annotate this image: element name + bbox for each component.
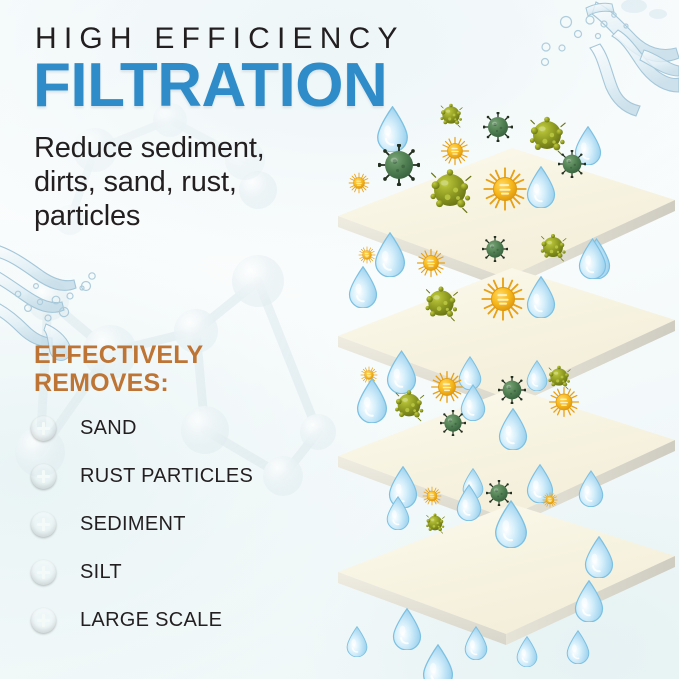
list-item: SAND [31,404,361,452]
plus-circle-icon [31,512,56,537]
subhead-line-3: particles [34,199,265,233]
plus-circle-icon [31,560,56,585]
pollen-spiked-yellow [423,487,441,505]
list-item-label: LARGE SCALE [80,609,222,632]
removes-heading: EFFECTIVELY REMOVES: [34,341,203,397]
kicker-text: HIGH EFFICIENCY [35,24,405,54]
layer-4-contaminants-above [486,480,513,507]
water-droplet [358,379,387,423]
water-droplet [350,267,377,308]
filter-layer-4 [338,471,675,645]
virus-spiky-dark-green [558,150,587,179]
water-droplet [517,637,537,667]
stacked-filter-layers-diagram [330,88,679,679]
pollen-spiked-yellow [361,367,377,383]
virus-spiky-dark-green [486,480,513,507]
microbe-bumpy-olive [426,513,444,533]
water-droplet [378,107,408,152]
subhead-line-1: Reduce sediment, [34,131,265,165]
pollen-spiked-yellow [349,173,369,193]
water-droplet [347,627,367,657]
list-item: RUST PARTICLES [31,452,361,500]
pollen-spiked-yellow [442,138,469,165]
filter-layer-1 [338,104,675,289]
pollen-spiked-yellow [359,247,375,263]
virus-spiky-dark-green [483,112,514,143]
list-item: SEDIMENT [31,500,361,548]
virus-spiky-dark-green [498,376,527,405]
pollen-spiked-yellow [543,493,557,507]
water-droplet [394,609,421,650]
removes-heading-line-2: REMOVES: [34,369,203,397]
layer-3-plate-face [338,388,675,518]
list-item: LARGE SCALE [31,596,361,644]
microbe-bumpy-olive [530,117,565,155]
virus-spiky-dark-green [482,236,509,263]
subhead-line-2: dirts, sand, rust, [34,165,265,199]
microbe-bumpy-olive [440,104,462,127]
removes-list: SAND RUST PARTICLES SEDIMENT SILT LARGE … [31,404,361,644]
list-item-label: SAND [80,417,137,440]
water-droplet [567,631,589,664]
microbe-bumpy-olive [395,390,424,421]
list-item-label: SEDIMENT [80,513,186,536]
virus-spiky-dark-green [377,143,420,186]
list-item: SILT [31,548,361,596]
plus-circle-icon [31,416,56,441]
pollen-spiked-yellow [484,168,525,209]
poster-root: HIGH EFFICIENCY FILTRATION Reduce sedime… [0,0,679,679]
list-item-label: RUST PARTICLES [80,465,253,488]
plus-circle-icon [31,608,56,633]
filter-layer-3 [338,366,675,529]
virus-spiky-dark-green [440,410,467,437]
pollen-spiked-yellow [432,372,463,403]
removes-heading-line-1: EFFECTIVELY [34,341,203,369]
pollen-spiked-yellow [550,388,579,417]
water-droplet [424,645,453,679]
pollen-spiked-yellow [418,250,445,277]
pollen-spiked-yellow [482,278,523,319]
list-item-label: SILT [80,561,122,584]
subhead-text: Reduce sediment, dirts, sand, rust, part… [34,131,265,234]
plus-circle-icon [31,464,56,489]
